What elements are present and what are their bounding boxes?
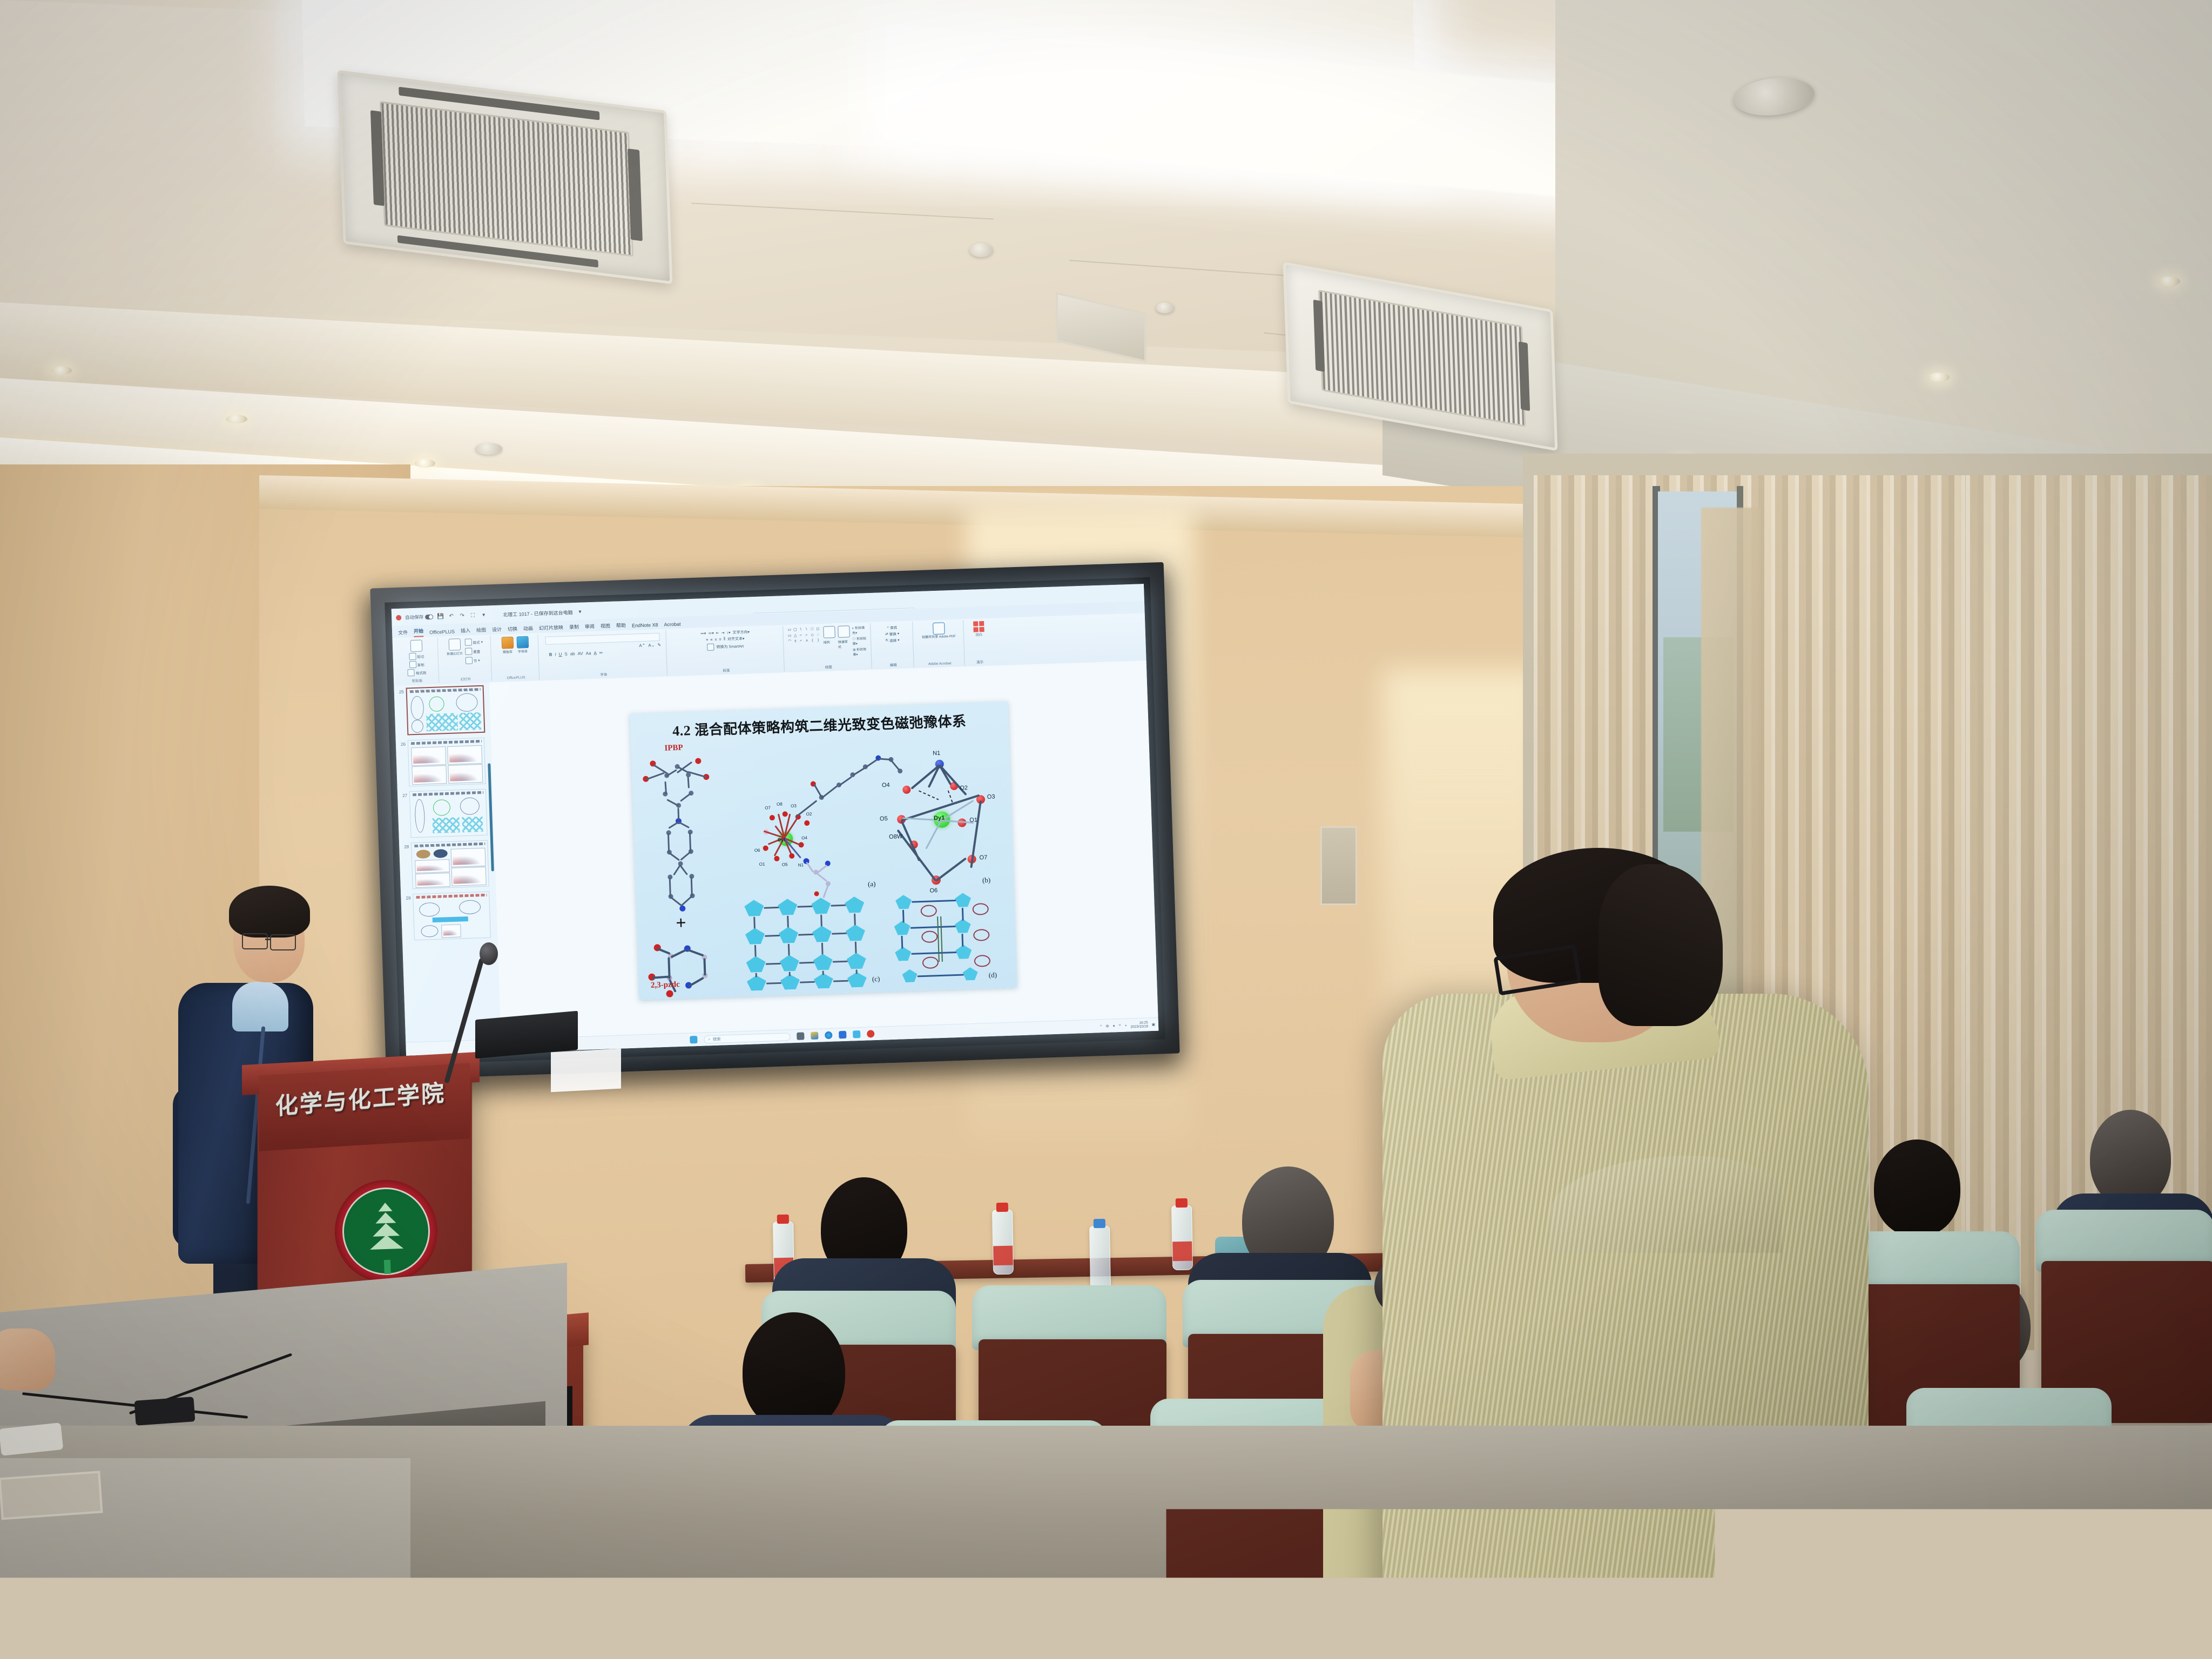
thumbnail-row[interactable]: 28 bbox=[401, 840, 493, 889]
char-spacing-button[interactable]: AV bbox=[577, 651, 583, 656]
slide-number: 27 bbox=[400, 792, 407, 798]
pointer-icon: ⇱ bbox=[886, 638, 889, 643]
thumb-molecule bbox=[410, 696, 424, 720]
group-label-acrobat: Adobe Acrobat bbox=[915, 661, 965, 666]
layout-icon bbox=[464, 638, 471, 645]
tab-slideshow[interactable]: 幻灯片放映 bbox=[539, 624, 564, 633]
thumb-molecule bbox=[412, 719, 424, 733]
group-label-present: 演示 bbox=[966, 658, 994, 665]
slide-number: 29 bbox=[403, 894, 410, 900]
audience-head bbox=[2090, 1110, 2171, 1207]
numbering-icon[interactable]: ≕▾ bbox=[708, 631, 714, 636]
brush-icon bbox=[408, 669, 415, 676]
reset-icon bbox=[465, 648, 472, 655]
edge-person-hands bbox=[0, 1328, 55, 1391]
ac-vent bbox=[1519, 341, 1530, 411]
redo-icon[interactable]: ↷ bbox=[458, 612, 466, 619]
thumb-lattice bbox=[459, 712, 481, 730]
bottle-label bbox=[1172, 1242, 1192, 1262]
audience-head-front bbox=[743, 1312, 845, 1431]
copy-button[interactable]: 复制 bbox=[409, 660, 424, 668]
bottle-cap bbox=[996, 1203, 1008, 1212]
tab-file[interactable]: 文件 bbox=[398, 629, 408, 638]
thumb-molecule bbox=[429, 696, 444, 712]
slide-title[interactable]: 4.2 混合配体策略构筑二维光致变色磁弛豫体系 bbox=[630, 709, 1009, 741]
chevron-up-icon[interactable]: ^ bbox=[1100, 1024, 1102, 1028]
atom-label-metal: Dy1 bbox=[934, 815, 945, 822]
slide-number: 28 bbox=[401, 843, 409, 849]
atom-label: O4 bbox=[882, 782, 890, 788]
audience-head bbox=[1874, 1139, 1960, 1237]
conference-room-photo: 自动保存 💾 ↶ ↷ ⛶ ▾ 北理工 1017 - 已保存到这台电脑 ▾ ⌕ 搜… bbox=[0, 0, 2212, 1659]
file-explorer-icon[interactable] bbox=[797, 1032, 804, 1040]
thumb-plot bbox=[412, 765, 447, 785]
tab-draw[interactable]: 绘图 bbox=[476, 626, 487, 636]
atom-label-metal: Dy1 bbox=[778, 837, 786, 842]
tab-home[interactable]: 开始 bbox=[414, 627, 424, 637]
cut-button[interactable]: 剪切 bbox=[409, 652, 424, 660]
tab-acrobat[interactable]: Acrobat bbox=[664, 622, 680, 629]
change-case-button[interactable]: Aa bbox=[586, 651, 591, 656]
slide-thumbnail-27[interactable] bbox=[409, 789, 488, 838]
thumb-title-bar bbox=[413, 791, 483, 796]
tencent-meeting-icon[interactable] bbox=[853, 1030, 860, 1038]
grid-icon[interactable] bbox=[973, 621, 984, 632]
shape-outline-button[interactable]: ◇ 形状轮廓▾ bbox=[852, 636, 868, 646]
panel-c-lattice bbox=[743, 895, 885, 990]
bold-button[interactable]: B bbox=[549, 652, 552, 657]
water-bottle bbox=[1089, 1226, 1111, 1291]
atom-label: O2 bbox=[960, 785, 968, 791]
presenter-shirt-collar bbox=[232, 982, 288, 1031]
adobe-pdf-icon[interactable] bbox=[933, 622, 945, 635]
ime-icon[interactable]: 中 bbox=[1105, 1023, 1109, 1029]
thumb-sample bbox=[416, 849, 430, 859]
ceiling-downlight bbox=[1928, 373, 1950, 382]
word-icon[interactable] bbox=[839, 1031, 846, 1038]
atom-label: O1 bbox=[969, 817, 977, 824]
decrease-indent-icon[interactable]: ⇤ bbox=[716, 631, 719, 635]
thumb-lattice bbox=[426, 713, 458, 731]
atom-label: O8W bbox=[889, 833, 902, 840]
atom-label: N1 bbox=[933, 750, 940, 757]
slide-editing-canvas[interactable]: 4.2 混合配体策略构筑二维光致变色磁弛豫体系 IPBP bbox=[489, 660, 1158, 1041]
thumb-band bbox=[433, 916, 468, 922]
thumb-molecule bbox=[433, 799, 450, 816]
thumb-plot bbox=[448, 764, 483, 784]
tab-view[interactable]: 视图 bbox=[601, 622, 611, 631]
thumb-title-bar bbox=[416, 894, 487, 899]
ac-grille bbox=[380, 102, 633, 257]
ribbon-group-paragraph: ≔▾ ≕▾ ⇤ ⇥ ↕▾ 文字方向▾ ≡ ≡ ≡ ≡ ⫼ 对齐文本▾ bbox=[667, 626, 785, 675]
thumb-molecule bbox=[459, 900, 481, 914]
ligand-label-ipbp: IPBP bbox=[664, 744, 683, 753]
ribbon-group-editing: ⌕查找 ⇄替换▾ ⇱选择▾ 编辑 bbox=[872, 622, 914, 668]
thumbnail-row[interactable]: 27 bbox=[400, 789, 491, 838]
shadow-button[interactable]: S bbox=[564, 652, 568, 657]
antivirus-icon[interactable]: ● bbox=[1113, 1024, 1115, 1028]
thumb-title-bar bbox=[414, 842, 485, 847]
presenter-glasses-left-lens bbox=[242, 933, 268, 949]
chevron-down-icon[interactable]: ▾ bbox=[480, 611, 487, 618]
layout-button[interactable]: 版式▾ bbox=[464, 638, 483, 646]
atom-label: O7 bbox=[979, 854, 987, 861]
tab-review[interactable]: 审阅 bbox=[585, 623, 595, 632]
smoke-detector bbox=[969, 243, 993, 257]
font-color-icon[interactable]: A̲ bbox=[594, 651, 597, 656]
strikethrough-button[interactable]: ab bbox=[570, 651, 575, 656]
smartart-icon bbox=[707, 644, 714, 651]
thumbnail-row[interactable]: 29 bbox=[403, 891, 494, 940]
tab-design[interactable]: 设计 bbox=[492, 626, 502, 635]
clear-format-icon[interactable]: ✎ bbox=[657, 643, 661, 648]
atom-label: O5 bbox=[782, 862, 788, 867]
atom-label: O8 bbox=[777, 802, 783, 807]
shape-effects-button[interactable]: ◍ 形状效果▾ bbox=[853, 646, 868, 657]
undo-icon[interactable]: ↶ bbox=[448, 612, 455, 619]
thumb-molecule bbox=[414, 799, 425, 833]
save-icon[interactable]: 💾 bbox=[437, 613, 444, 620]
ac-vent bbox=[628, 149, 643, 241]
edge-icon[interactable] bbox=[825, 1031, 832, 1039]
underline-button[interactable]: U bbox=[558, 652, 562, 657]
water-bottle bbox=[1171, 1205, 1193, 1271]
reset-button[interactable]: 重置 bbox=[465, 648, 483, 655]
thumbnail-row[interactable]: 26 bbox=[398, 738, 489, 787]
record-icon bbox=[396, 615, 401, 621]
atom-label: O4 bbox=[801, 835, 807, 840]
tab-record[interactable]: 录制 bbox=[569, 623, 579, 632]
system-tray: ^ 中 ● ⌗ ◑ 16:25 2023/10/18 ▣ bbox=[1100, 1021, 1155, 1030]
group-label-slides: 幻灯片 bbox=[440, 675, 491, 682]
align-center-icon[interactable]: ≡ bbox=[710, 638, 712, 642]
bottle-cap bbox=[1094, 1219, 1105, 1228]
document-title: 北理工 1017 - 已保存到这台电脑 bbox=[503, 609, 573, 618]
thumb-plot bbox=[411, 746, 446, 766]
quick-styles-icon[interactable] bbox=[838, 625, 850, 638]
smoke-detector bbox=[1156, 302, 1174, 313]
new-slide-icon[interactable] bbox=[448, 638, 461, 651]
thumb-plot bbox=[441, 924, 461, 938]
thumb-molecule bbox=[421, 925, 439, 938]
template-library-icon[interactable] bbox=[501, 637, 514, 649]
present-icon[interactable]: ⛶ bbox=[469, 612, 476, 619]
ribbon-group-officeplus: 模板库 字体库 OfficePLUS bbox=[491, 634, 539, 681]
ribbon-group-font: A⌃ A⌄ ✎ B I U S ab AV Aa A̲ ✏ 字体 bbox=[539, 630, 667, 679]
chevron-down-icon-2[interactable]: ▾ bbox=[576, 608, 583, 615]
ceiling-downlight bbox=[415, 459, 435, 468]
slide-thumbnail-26[interactable] bbox=[408, 738, 486, 787]
powerpoint-icon[interactable] bbox=[867, 1030, 874, 1037]
panel-label-d: (d) bbox=[989, 971, 997, 980]
thumb-plot bbox=[415, 859, 450, 873]
atom-label: N1 bbox=[798, 862, 804, 867]
bullets-icon[interactable]: ≔▾ bbox=[700, 631, 706, 636]
copy-icon bbox=[409, 661, 416, 668]
wechat-icon[interactable] bbox=[811, 1032, 818, 1040]
font-size-shrink-icon[interactable]: A⌄ bbox=[648, 643, 655, 648]
ceiling-downlight bbox=[2157, 276, 2180, 286]
notifications-icon[interactable]: ▣ bbox=[1152, 1022, 1155, 1027]
shape-gallery[interactable]: ▭▢\\□◻ ▭△⌐⌐◇◌ ◠ɛ⌐ʌ() bbox=[787, 626, 820, 644]
ribbon-group-present: 凹凸 演示 bbox=[965, 619, 994, 665]
ribbon-group-clipboard: 剪切 复制 格式刷 剪贴板 bbox=[395, 638, 440, 685]
presenter-hair bbox=[229, 886, 310, 938]
format-painter-button[interactable]: 格式刷 bbox=[408, 669, 427, 676]
panel-label-a: (a) bbox=[868, 880, 876, 888]
section-icon bbox=[466, 657, 473, 664]
section-button[interactable]: 节▾ bbox=[466, 657, 484, 664]
scissors-icon bbox=[409, 653, 416, 660]
panel-label-c: (c) bbox=[872, 975, 880, 983]
align-left-icon[interactable]: ≡ bbox=[706, 638, 708, 642]
arrange-icon[interactable] bbox=[823, 626, 835, 638]
align-text-button[interactable]: 对齐文本▾ bbox=[727, 636, 745, 642]
slide-thumbnail-pane[interactable]: 25 26 bbox=[394, 682, 501, 1044]
ceiling-downlight bbox=[51, 366, 72, 375]
find-button[interactable]: ⌕查找 bbox=[887, 624, 897, 630]
clock-date: 2023/10/18 bbox=[1130, 1024, 1148, 1029]
tab-animations[interactable]: 动画 bbox=[523, 625, 534, 634]
bottle-label bbox=[993, 1246, 1013, 1266]
taskbar-search-input[interactable]: ⌕ 搜索 bbox=[704, 1033, 790, 1043]
atom-label: O5 bbox=[880, 815, 888, 822]
slide-thumbnail-28[interactable] bbox=[411, 840, 489, 889]
line-spacing-icon[interactable]: ↕▾ bbox=[726, 631, 730, 635]
highlight-icon[interactable]: ✏ bbox=[599, 650, 603, 655]
tab-transitions[interactable]: 切换 bbox=[508, 625, 518, 635]
network-icon[interactable]: ⌗ bbox=[1119, 1023, 1121, 1028]
thumb-lattice bbox=[433, 817, 460, 833]
justify-icon[interactable]: ≡ bbox=[719, 638, 721, 642]
presenter-glasses-right-lens bbox=[270, 934, 296, 950]
tab-insert[interactable]: 插入 bbox=[461, 627, 471, 636]
start-icon[interactable] bbox=[690, 1036, 697, 1043]
smoke-detector bbox=[475, 443, 502, 455]
bottle-cap bbox=[777, 1215, 789, 1224]
atom-label: O3 bbox=[987, 793, 995, 800]
thumb-molecule bbox=[456, 693, 478, 712]
atom-label: O7 bbox=[765, 805, 771, 810]
columns-icon[interactable]: ⫼ bbox=[724, 637, 725, 642]
align-right-icon[interactable]: ≡ bbox=[714, 638, 717, 642]
thumb-molecule bbox=[419, 902, 440, 917]
thumb-plot bbox=[415, 873, 450, 888]
slide-thumbnail-25[interactable] bbox=[406, 685, 485, 736]
taskbar-search-placeholder: 搜索 bbox=[712, 1036, 720, 1042]
autosave-toggle[interactable]: 自动保存 bbox=[405, 613, 433, 621]
search-icon-3: ⌕ bbox=[708, 1036, 711, 1042]
ribbon-group-acrobat: 创建并共享 Adobe PDF Adobe Acrobat bbox=[914, 620, 965, 667]
thumb-title-bar bbox=[411, 740, 482, 745]
group-label-clipboard: 剪贴板 bbox=[396, 677, 439, 684]
search-icon-2: ⌕ bbox=[887, 625, 889, 630]
ribbon-group-slides: 新建幻灯片 版式▾ 重置 节▾ 幻灯片 bbox=[439, 636, 492, 683]
atom-label: O1 bbox=[759, 862, 765, 867]
slide-number: 25 bbox=[396, 688, 404, 694]
thumb-plot bbox=[450, 848, 485, 867]
replace-button[interactable]: ⇄替换▾ bbox=[885, 631, 899, 637]
atom-label: O2 bbox=[806, 812, 812, 817]
slide-thumbnail-29[interactable] bbox=[413, 892, 491, 941]
floor-junction-box bbox=[134, 1397, 195, 1426]
select-button[interactable]: ⇱选择▾ bbox=[886, 637, 900, 643]
ligand-label-pzdc: 2,3-pzdc bbox=[651, 980, 680, 990]
increase-indent-icon[interactable]: ⇥ bbox=[721, 631, 725, 635]
thumbnail-row[interactable]: 25 bbox=[396, 685, 488, 736]
ac-grille bbox=[1318, 289, 1526, 427]
convert-smartart-button[interactable]: 转换为 SmartArt bbox=[716, 643, 744, 650]
text-direction-button[interactable]: 文字方向▾ bbox=[732, 629, 750, 635]
italic-button[interactable]: I bbox=[555, 652, 556, 657]
temperature-display bbox=[551, 1049, 621, 1092]
font-size-grow-icon[interactable]: A⌃ bbox=[639, 643, 645, 648]
presenter-glasses-bridge bbox=[265, 939, 271, 940]
thumb-lattice bbox=[462, 817, 483, 832]
current-slide[interactable]: 4.2 混合配体策略构筑二维光致变色磁弛豫体系 IPBP bbox=[630, 702, 1017, 1000]
ceiling-downlight bbox=[226, 415, 247, 423]
shape-fill-button[interactable]: ◐ 形状填充▾ bbox=[852, 625, 868, 635]
floor-access-plate bbox=[0, 1471, 103, 1520]
ribbon-group-drawing: ▭▢\\□◻ ▭△⌐⌐◇◌ ◠ɛ⌐ʌ() 排列 快速样式 ◐ 形状填充▾ bbox=[784, 623, 872, 671]
paste-icon[interactable] bbox=[410, 639, 422, 652]
thumb-sample bbox=[433, 849, 448, 858]
powerpoint-window[interactable]: 自动保存 💾 ↶ ↷ ⛶ ▾ 北理工 1017 - 已保存到这台电脑 ▾ ⌕ 搜… bbox=[392, 584, 1159, 1056]
atom-label: O3 bbox=[791, 804, 797, 808]
toggle-switch-icon bbox=[425, 614, 433, 619]
group-label-officeplus: OfficePLUS bbox=[493, 675, 539, 680]
group-label-editing: 编辑 bbox=[873, 661, 913, 667]
volume-icon[interactable]: ◑ bbox=[1124, 1023, 1127, 1027]
thumb-plot bbox=[451, 867, 487, 886]
thumb-plot bbox=[447, 745, 482, 765]
replace-icon: ⇄ bbox=[885, 632, 888, 636]
podium-microphone-head bbox=[480, 942, 498, 965]
autosave-label: 自动保存 bbox=[405, 613, 423, 621]
thumb-title-bar bbox=[410, 688, 481, 693]
create-share-pdf-label: 创建并共享 Adobe PDF bbox=[922, 635, 956, 640]
thumb-molecule bbox=[460, 797, 480, 815]
clock[interactable]: 16:25 2023/10/18 bbox=[1130, 1021, 1148, 1029]
panel-label-b: (b) bbox=[982, 876, 991, 885]
wall-speaker bbox=[1320, 826, 1357, 905]
atom-label: O6 bbox=[754, 848, 760, 853]
water-bottle bbox=[992, 1210, 1014, 1275]
font-library-icon[interactable] bbox=[516, 636, 529, 649]
bottle-cap bbox=[1176, 1198, 1188, 1208]
tab-help[interactable]: 帮助 bbox=[616, 622, 626, 631]
slide-number: 26 bbox=[398, 740, 406, 747]
plus-sign: + bbox=[676, 913, 687, 934]
